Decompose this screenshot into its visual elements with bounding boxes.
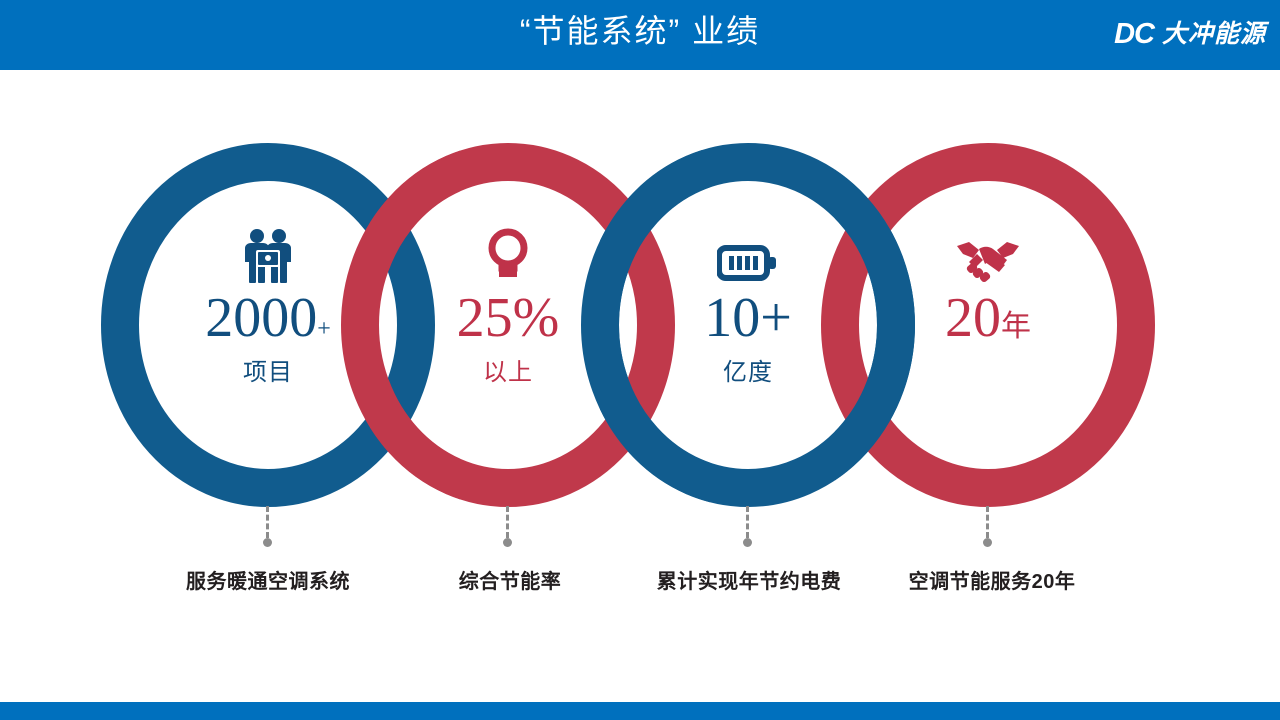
battery-icon	[633, 222, 863, 284]
handshake-icon	[873, 222, 1103, 284]
connector-dot-4	[983, 538, 992, 547]
metric-card-2: 25% 以上	[393, 222, 623, 387]
connector-line-3	[746, 506, 749, 538]
logo-company-name: 大冲能源	[1162, 22, 1266, 47]
metric-card-3: 10+ 亿度	[633, 222, 863, 387]
logo-mark-dc: DC	[1114, 20, 1154, 49]
caption-4: 空调节能服务20年	[852, 565, 1132, 594]
metric-unit-2: 以上	[393, 352, 623, 387]
caption-2: 综合节能率	[370, 565, 650, 594]
metric-value-4: 20年	[873, 290, 1103, 346]
page-title: “节能系统” 业绩	[0, 0, 1280, 70]
metric-value-1: 2000+	[153, 290, 383, 346]
two-people-icon	[153, 222, 383, 284]
connector-dot-1	[263, 538, 272, 547]
connector-dot-2	[503, 538, 512, 547]
connector-line-1	[266, 506, 269, 538]
header-bar: “节能系统” 业绩 DC 大冲能源	[0, 0, 1280, 70]
connector-line-2	[506, 506, 509, 538]
connector-line-4	[986, 506, 989, 538]
metric-value-3: 10+	[633, 290, 863, 346]
metric-card-1: 2000+ 项目	[153, 222, 383, 387]
caption-3: 累计实现年节约电费	[609, 565, 889, 594]
connector-dot-3	[743, 538, 752, 547]
metric-unit-1: 项目	[153, 352, 383, 387]
metric-value-2: 25%	[393, 290, 623, 346]
company-logo: DC 大冲能源	[1114, 14, 1266, 54]
footer-bar	[0, 702, 1280, 720]
caption-1: 服务暖通空调系统	[128, 565, 408, 594]
slide-root: “节能系统” 业绩 DC 大冲能源	[0, 0, 1280, 720]
lightbulb-icon	[393, 222, 623, 284]
metric-card-4: 20年	[873, 222, 1103, 352]
metric-unit-3: 亿度	[633, 352, 863, 387]
